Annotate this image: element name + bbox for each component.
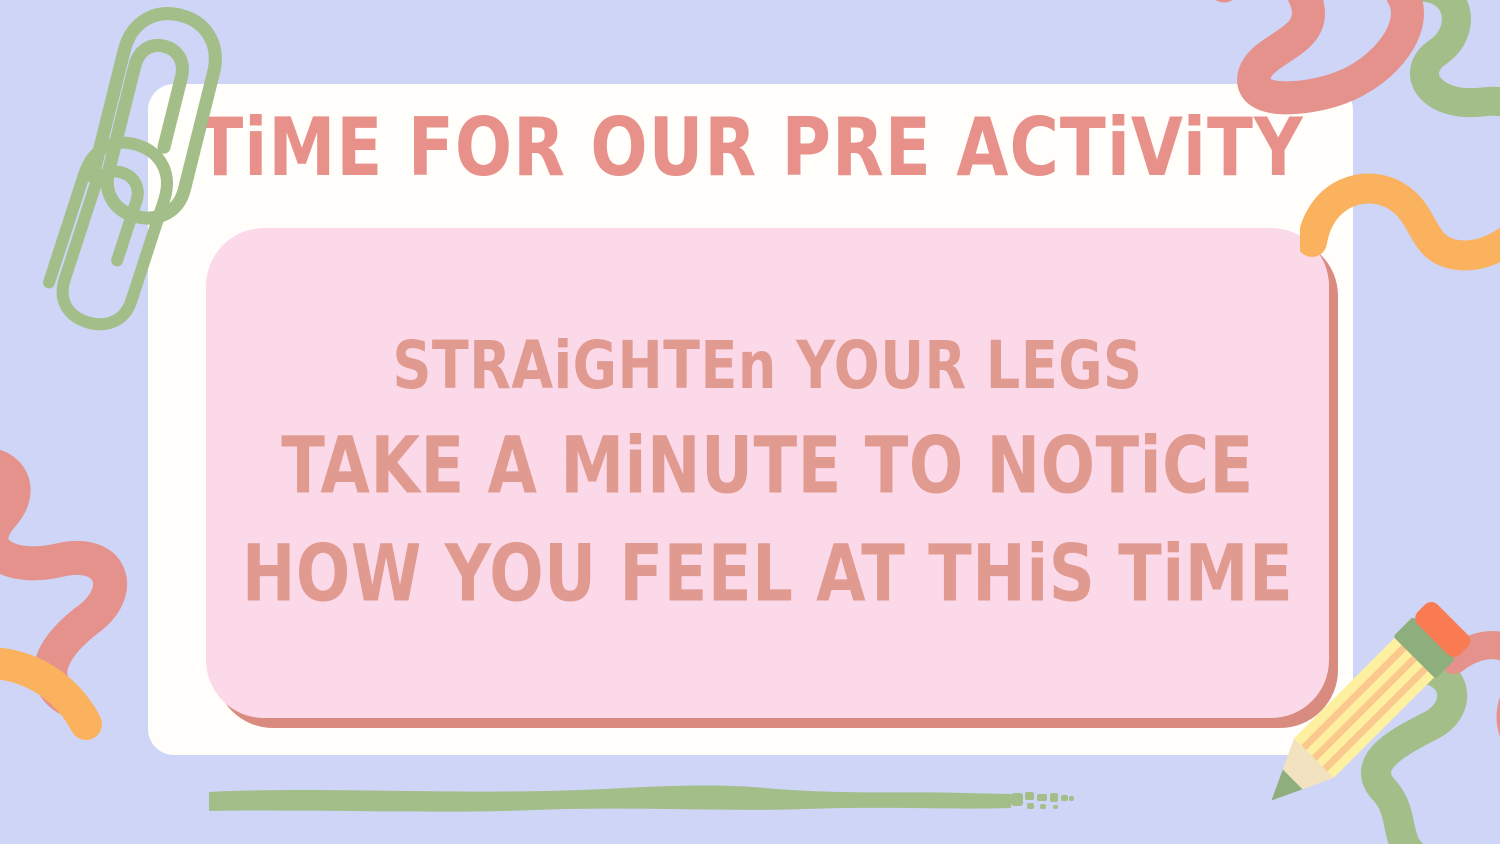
instruction-line-3: HOW YOU FEEL AT THiS TiME bbox=[242, 536, 1293, 614]
instruction-line-1: STRAiGHTEn YOUR LEGS bbox=[393, 333, 1143, 399]
squiggle-green-bottom-right-icon bbox=[1350, 660, 1500, 844]
arc-orange-left-icon bbox=[0, 638, 114, 748]
brush-stroke-green-icon bbox=[205, 782, 1075, 816]
squiggle-salmon-bottom-right-icon bbox=[1440, 630, 1500, 830]
squiggle-green-top-right-icon bbox=[1390, 0, 1500, 190]
page-title: TiME FOR OUR PRE ACTiViTY bbox=[136, 108, 1365, 189]
instruction-line-2: TAKE A MiNUTE TO NOTiCE bbox=[281, 428, 1254, 506]
squiggle-salmon-left-icon bbox=[0, 430, 150, 730]
instruction-panel-text: STRAiGHTEn YOUR LEGS TAKE A MiNUTE TO NO… bbox=[206, 228, 1329, 718]
slide-canvas: TiME FOR OUR PRE ACTiViTY STRAiGHTEn YOU… bbox=[0, 0, 1500, 844]
